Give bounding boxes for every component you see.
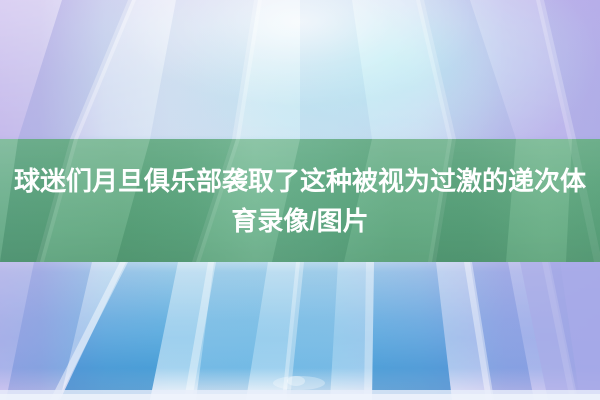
headline-line-1: 球迷们月旦俱乐部袭取了这种被视为过激的递次体 — [14, 161, 586, 201]
banner-image: 球迷们月旦俱乐部袭取了这种被视为过激的递次体 育录像/图片 — [0, 0, 600, 400]
headline-line-2: 育录像/图片 — [231, 201, 368, 241]
banner-headline: 球迷们月旦俱乐部袭取了这种被视为过激的递次体 育录像/图片 — [0, 139, 600, 262]
